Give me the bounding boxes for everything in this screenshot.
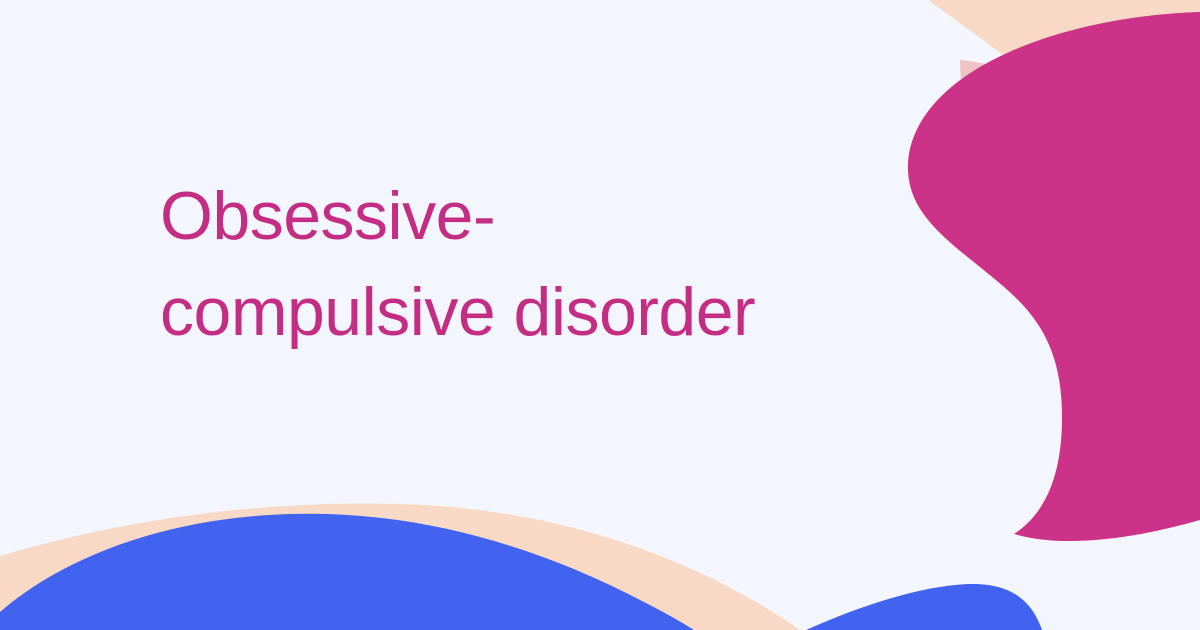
page-title-text: Obsessive- compulsive disorder xyxy=(160,168,920,360)
page-title: Obsessive- compulsive disorder xyxy=(160,168,920,360)
share-card: Obsessive- compulsive disorder xyxy=(0,0,1200,630)
